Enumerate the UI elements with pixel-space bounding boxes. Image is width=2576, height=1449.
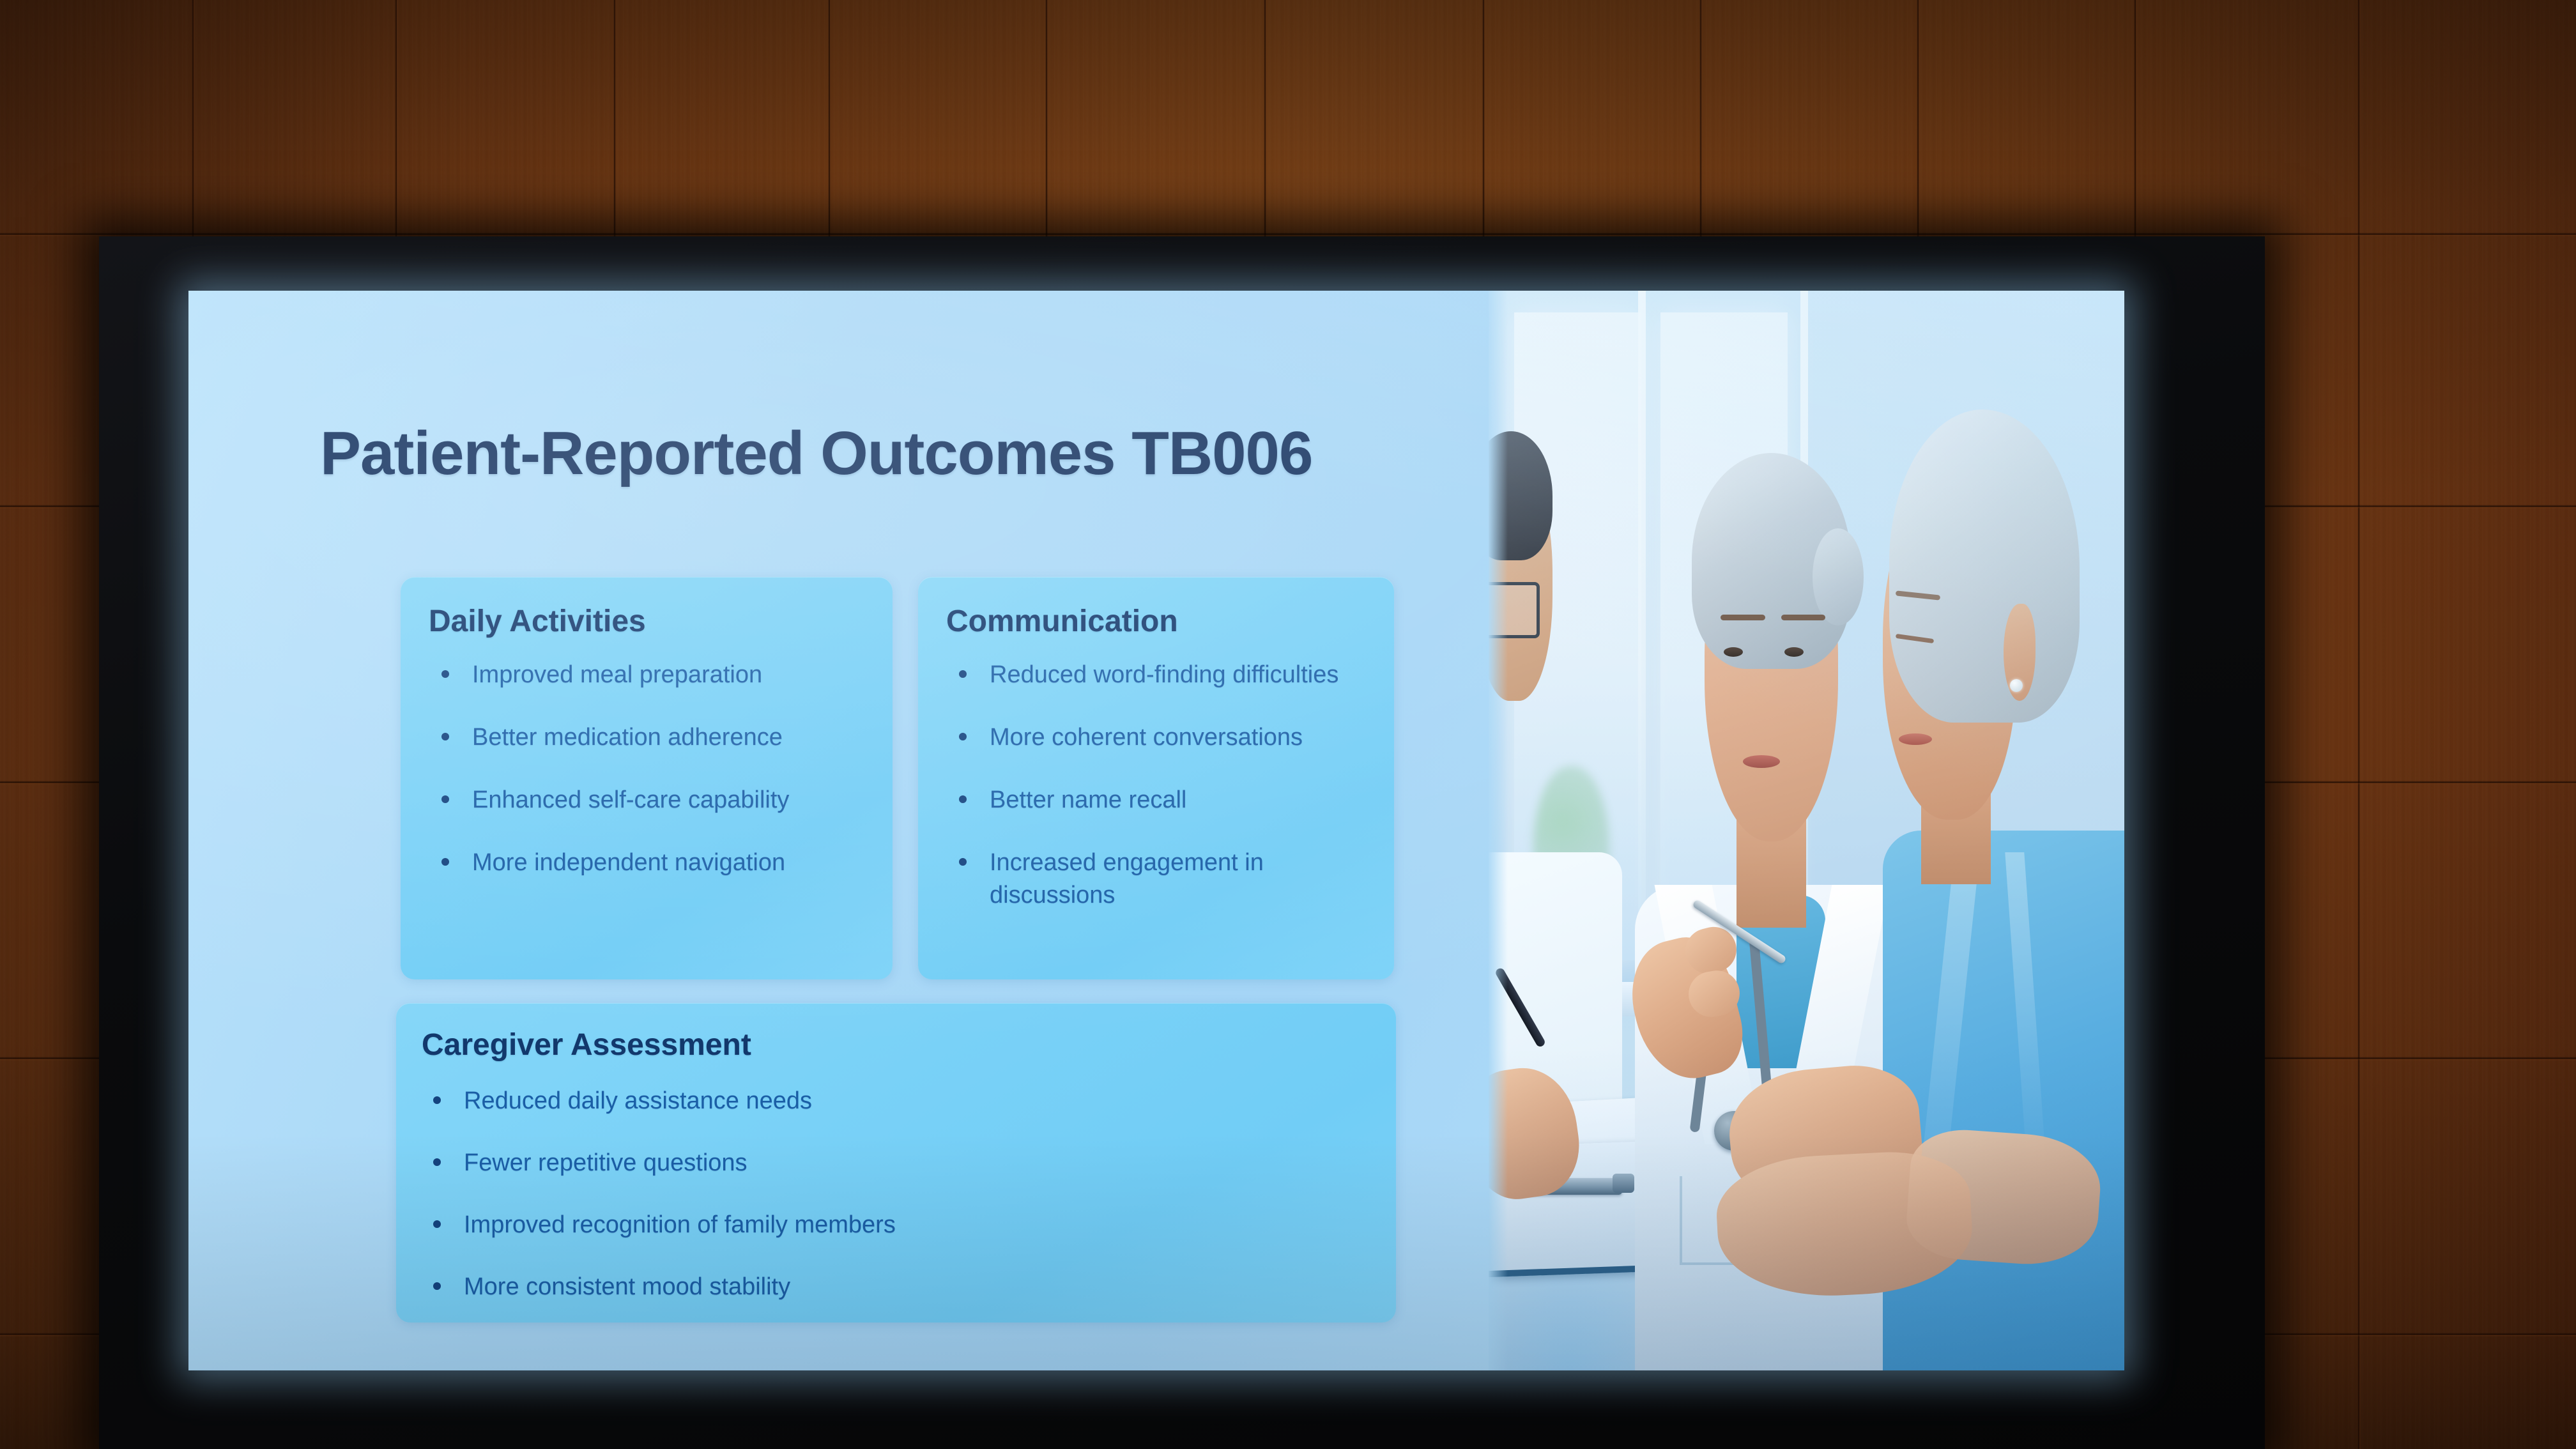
card-heading: Daily Activities (429, 604, 646, 639)
bullet-list: Reduced word-finding difficulties More c… (944, 659, 1380, 942)
bullet-text: More independent navigation (472, 847, 878, 879)
card-heading: Caregiver Assessment (422, 1027, 751, 1062)
list-item: More coherent conversations (944, 721, 1380, 754)
bullet-dot-icon (441, 733, 449, 740)
clinician-mouth (1743, 755, 1780, 768)
bullet-dot-icon (441, 670, 449, 678)
bullet-text: Reduced word-finding difficulties (990, 659, 1380, 691)
bullet-text: More consistent mood stability (464, 1271, 1382, 1303)
bullet-dot-icon (441, 858, 449, 866)
slide-title: Patient-Reported Outcomes TB006 (320, 418, 1312, 489)
list-item: Reduced daily assistance needs (418, 1085, 1382, 1117)
bullet-dot-icon (433, 1282, 441, 1290)
card-heading: Communication (946, 604, 1178, 639)
bullet-text: Fewer repetitive questions (464, 1147, 1382, 1179)
list-item: Improved meal preparation (426, 659, 878, 691)
clinician-eye (1784, 647, 1804, 657)
list-item: More independent navigation (426, 847, 878, 879)
bullet-dot-icon (433, 1158, 441, 1166)
bullet-dot-icon (433, 1096, 441, 1104)
bullet-text: Increased engagement in discussions (990, 847, 1328, 912)
list-item: Increased engagement in discussions (944, 847, 1380, 912)
clinician-eye (1724, 647, 1743, 657)
list-item: Improved recognition of family members (418, 1209, 1382, 1241)
list-item: Reduced word-finding difficulties (944, 659, 1380, 691)
bullet-text: Better name recall (990, 784, 1380, 816)
list-item: More consistent mood stability (418, 1271, 1382, 1303)
bullet-text: Enhanced self-care capability (472, 784, 878, 816)
clinician-hair-bun (1813, 528, 1864, 625)
display-bezel: Patient-Reported Outcomes TB006 Daily Ac… (99, 236, 2265, 1449)
bullet-dot-icon (959, 733, 967, 740)
bullet-text: Reduced daily assistance needs (464, 1085, 1382, 1117)
list-item: Fewer repetitive questions (418, 1147, 1382, 1179)
slide-photo-clinician-and-patient (1489, 291, 2124, 1370)
clinician-eyebrow (1721, 615, 1765, 620)
bullet-text: More coherent conversations (990, 721, 1380, 754)
bullet-text: Improved recognition of family members (464, 1209, 1382, 1241)
clinician-eyebrow (1781, 615, 1826, 620)
conference-room: Patient-Reported Outcomes TB006 Daily Ac… (0, 0, 2576, 1449)
bullet-list: Improved meal preparation Better medicat… (426, 659, 878, 879)
wall-seam-vertical (2357, 0, 2361, 1449)
list-item: Better name recall (944, 784, 1380, 816)
card-caregiver-assessment[interactable]: Caregiver Assessment Reduced daily assis… (396, 1003, 1396, 1322)
clipboard-clip-knob (1613, 1174, 1634, 1193)
bullet-text: Better medication adherence (472, 721, 878, 754)
photo-edge-fade (1489, 291, 1508, 1370)
bullet-dot-icon (959, 858, 967, 866)
presentation-slide[interactable]: Patient-Reported Outcomes TB006 Daily Ac… (188, 291, 2124, 1370)
card-communication[interactable]: Communication Reduced word-finding diffi… (918, 577, 1394, 979)
bullet-dot-icon (959, 795, 967, 803)
patient-forearm (1904, 1126, 2103, 1269)
window-mullion (1638, 291, 1646, 982)
bullet-dot-icon (441, 795, 449, 803)
patient-shirt (1883, 831, 2124, 1370)
bullet-text: Improved meal preparation (472, 659, 878, 691)
list-item: Better medication adherence (426, 721, 878, 754)
patient-mouth (1899, 733, 1932, 745)
card-daily-activities[interactable]: Daily Activities Improved meal preparati… (401, 577, 893, 979)
wall-mounted-display[interactable]: Patient-Reported Outcomes TB006 Daily Ac… (99, 236, 2265, 1449)
bullet-dot-icon (959, 670, 967, 678)
bullet-list: Reduced daily assistance needs Fewer rep… (418, 1085, 1382, 1333)
list-item: Enhanced self-care capability (426, 784, 878, 816)
patient-hair (1889, 410, 2080, 723)
bullet-dot-icon (433, 1220, 441, 1228)
